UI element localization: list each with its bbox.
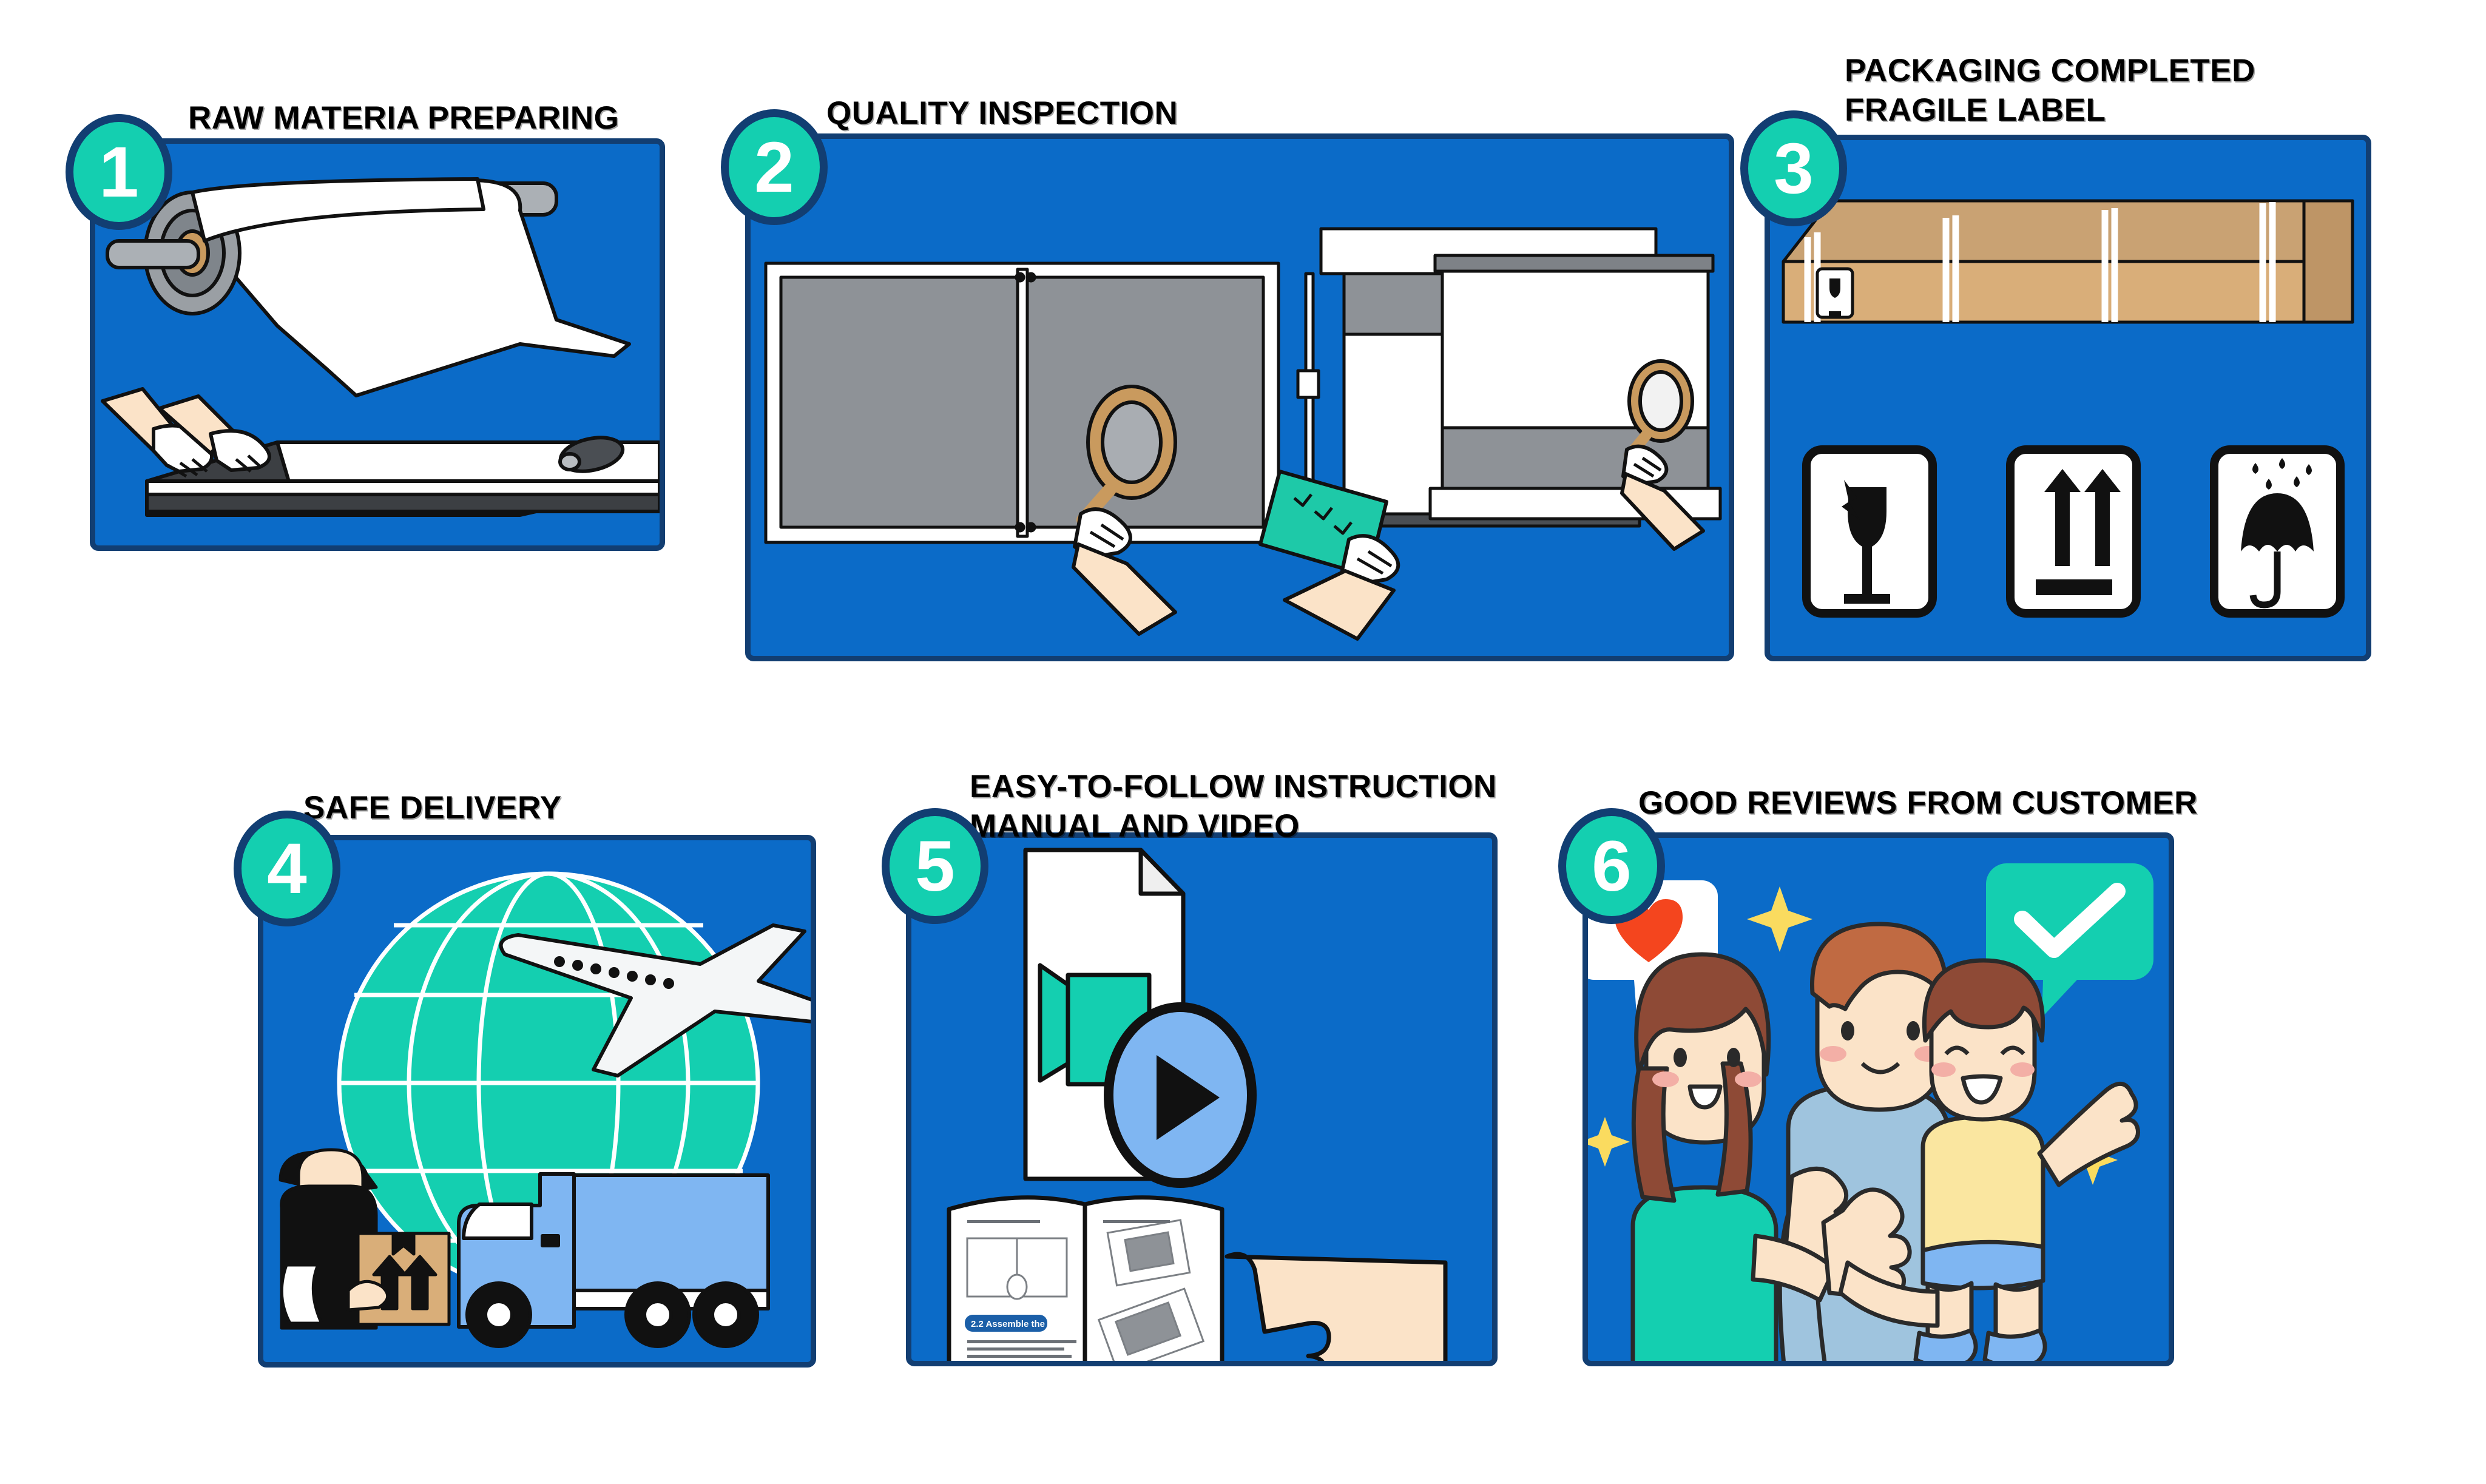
step-badge-6[interactable]: 6: [1558, 808, 1665, 924]
step-number-5: 5: [915, 831, 955, 902]
panel-4-artwork: [263, 840, 816, 1368]
step-badge-2[interactable]: 2: [721, 109, 828, 225]
play-button: [1109, 1007, 1252, 1183]
panel-2-artwork: [751, 139, 1734, 661]
handling-symbols: [1806, 450, 2340, 613]
step-title-2: QUALITY INSPECTION: [826, 94, 1178, 133]
step-badge-5[interactable]: 5: [882, 808, 988, 924]
step-title-4: SAFE DELIVERY: [303, 789, 562, 828]
step-title-6: GOOD REVIEWS FROM CUSTOMER: [1638, 784, 2198, 823]
step-number-2: 2: [754, 132, 794, 203]
step-badge-3[interactable]: 3: [1740, 110, 1847, 226]
step-number-4: 4: [267, 833, 307, 905]
cardboard-crate: [1783, 201, 2353, 322]
step-panel-6[interactable]: [1582, 832, 2174, 1366]
step-title-3: PACKAGING COMPLETED FRAGILE LABEL: [1845, 52, 2255, 130]
panel-3-artwork: [1770, 140, 2371, 661]
panel-6-artwork: [1588, 838, 2174, 1366]
this-way-up-symbol: [2010, 450, 2136, 613]
step-title-1: RAW MATERIA PREPARING: [188, 99, 619, 138]
step-panel-2[interactable]: [745, 133, 1734, 661]
step-number-1: 1: [99, 137, 139, 208]
step-panel-1[interactable]: [90, 138, 665, 551]
panel-1-artwork: [95, 144, 665, 551]
step-number-3: 3: [1774, 133, 1814, 204]
panel-5-artwork: 2.2 Assemble the Screen: [911, 838, 1498, 1366]
panel-6-background: [1582, 832, 2174, 1366]
svg-text:2.2 Assemble the Screen: 2.2 Assemble the Screen: [971, 1319, 1078, 1329]
keep-dry-umbrella-symbol: [2214, 450, 2340, 613]
step-title-5: EASY-TO-FOLLOW INSTRUCTION MANUAL AND VI…: [970, 767, 1497, 846]
panel-4-background: [258, 835, 816, 1368]
step-panel-3[interactable]: [1765, 135, 2371, 661]
step-panel-4[interactable]: [258, 835, 816, 1368]
step-badge-4[interactable]: 4: [234, 811, 340, 926]
step-badge-1[interactable]: 1: [66, 114, 172, 230]
step-number-6: 6: [1592, 831, 1632, 902]
panel-1-background: [90, 138, 665, 551]
panel-2-background: [745, 133, 1734, 661]
panel-5-background: 2.2 Assemble the Screen: [906, 832, 1498, 1366]
fragile-glass-symbol: [1806, 450, 1933, 613]
step-panel-5[interactable]: 2.2 Assemble the Screen: [906, 832, 1498, 1366]
panel-3-background: [1765, 135, 2371, 661]
